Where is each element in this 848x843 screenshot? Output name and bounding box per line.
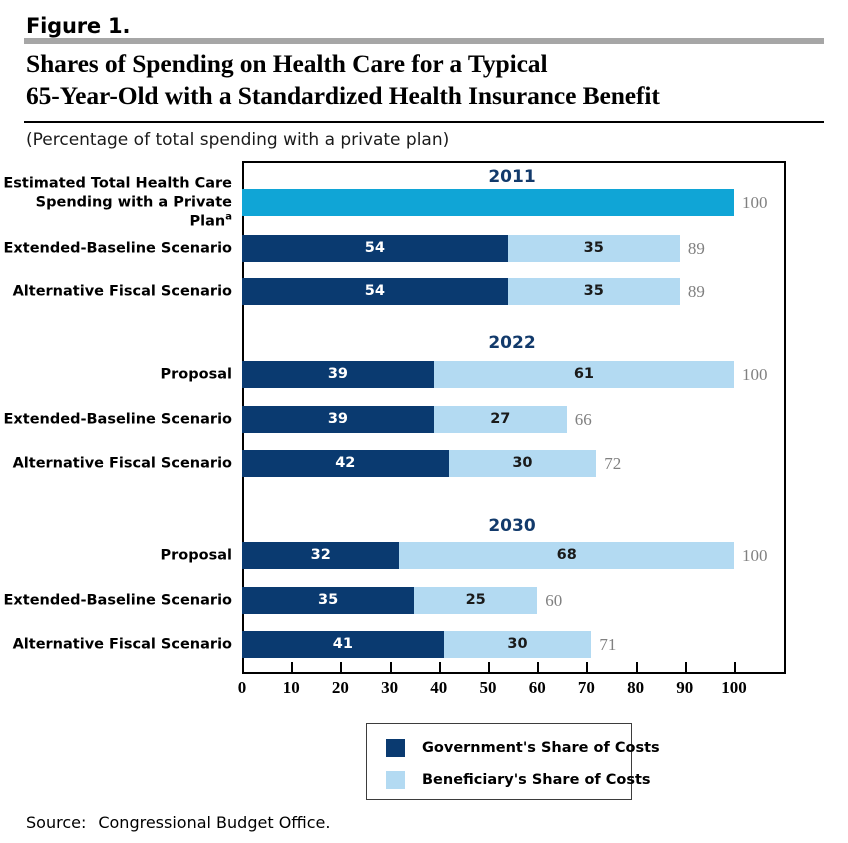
x-axis-tick	[636, 662, 638, 674]
x-axis-tick-label: 40	[430, 678, 447, 698]
x-axis-tick	[439, 662, 441, 674]
chart-bar-beneficiary: 35	[508, 278, 680, 305]
chart-row-total-label: 100	[742, 546, 768, 566]
chart-subtitle: (Percentage of total spending with a pri…	[26, 130, 449, 150]
legend-swatch-icon	[386, 739, 405, 757]
chart-group-title-2022: 2022	[432, 333, 592, 353]
chart-bar-beneficiary: 30	[444, 631, 592, 658]
page-title: Shares of Spending on Health Care for a …	[26, 48, 826, 112]
x-axis-tick-label: 100	[721, 678, 747, 698]
chart-row: Extended-Baseline Scenario392766	[0, 406, 848, 433]
source-note: Source:Congressional Budget Office.	[26, 813, 330, 832]
page-title-line-1: Shares of Spending on Health Care for a …	[26, 48, 826, 80]
chart-bar-government-value: 32	[242, 542, 399, 569]
chart-row-total-label: 89	[688, 239, 705, 259]
chart-row-total-label: 89	[688, 282, 705, 302]
chart-row: Extended-Baseline Scenario352560	[0, 587, 848, 614]
x-axis-tick	[291, 662, 293, 674]
x-axis-tick	[734, 662, 736, 674]
x-axis-tick	[242, 662, 244, 674]
chart-row: Proposal3268100	[0, 542, 848, 569]
header-rule-thin	[24, 121, 824, 123]
chart-bar-beneficiary: 30	[449, 450, 597, 477]
chart-bar-government-value: 39	[242, 406, 434, 433]
x-axis-ticks	[242, 662, 786, 674]
chart-legend: Government's Share of CostsBeneficiary's…	[366, 723, 632, 800]
x-axis-tick	[390, 662, 392, 674]
x-axis-tick-label: 20	[332, 678, 349, 698]
chart-bar-beneficiary-value: 68	[399, 542, 734, 569]
chart-bar-government-value: 35	[242, 587, 414, 614]
chart-row: Alternative Fiscal Scenario423072	[0, 450, 848, 477]
chart-bar-beneficiary: 25	[414, 587, 537, 614]
chart-row-label: Extended-Baseline Scenario	[0, 410, 242, 429]
chart-row: Alternative Fiscal Scenario413071	[0, 631, 848, 658]
chart-bar-beneficiary-value: 35	[508, 278, 680, 305]
chart-row-label: Alternative Fiscal Scenario	[0, 454, 242, 473]
chart-bar-beneficiary-value: 35	[508, 235, 680, 262]
chart-row-label: Proposal	[0, 546, 242, 565]
x-axis-tick-label: 80	[627, 678, 644, 698]
chart-bar-beneficiary-value: 30	[449, 450, 597, 477]
chart-row: Extended-Baseline Scenario543589	[0, 235, 848, 262]
chart-row: Proposal3961100	[0, 361, 848, 388]
chart-bar-government: 54	[242, 278, 508, 305]
footnote-marker: a	[225, 211, 232, 222]
x-axis-tick-label: 0	[238, 678, 247, 698]
chart-row-total-label: 66	[575, 410, 592, 430]
chart-row-total-label: 100	[742, 365, 768, 385]
chart-row-label: Estimated Total Health Care Spending wit…	[0, 174, 242, 231]
x-axis-tick-label: 10	[283, 678, 300, 698]
chart-rows-layer: 2011Estimated Total Health Care Spending…	[0, 161, 848, 674]
source-value: Congressional Budget Office.	[98, 813, 330, 832]
x-axis-tick-label: 70	[578, 678, 595, 698]
x-axis-tick-label: 90	[676, 678, 693, 698]
chart-bar-government-value: 54	[242, 235, 508, 262]
chart-row-label: Alternative Fiscal Scenario	[0, 282, 242, 301]
legend-swatch-icon	[386, 771, 405, 789]
chart-row: Alternative Fiscal Scenario543589	[0, 278, 848, 305]
chart-row-total-label: 100	[742, 193, 768, 213]
x-axis-tick	[340, 662, 342, 674]
x-axis-tick	[488, 662, 490, 674]
chart-bar-government-value: 42	[242, 450, 449, 477]
x-axis-tick	[537, 662, 539, 674]
legend-label: Government's Share of Costs	[422, 738, 660, 758]
chart-group-title-2030: 2030	[432, 516, 592, 536]
chart-bar-beneficiary-value: 27	[434, 406, 567, 433]
x-axis-tick-label: 50	[480, 678, 497, 698]
x-axis-tick-label: 30	[381, 678, 398, 698]
chart-bar-beneficiary: 27	[434, 406, 567, 433]
chart-bar-beneficiary: 61	[434, 361, 734, 388]
legend-label: Beneficiary's Share of Costs	[422, 770, 651, 790]
chart-group-title-2011: 2011	[432, 167, 592, 187]
chart-bar-total-private	[242, 189, 734, 216]
chart-bar-government-value: 39	[242, 361, 434, 388]
chart-row-total-label: 72	[604, 454, 621, 474]
chart-bar-beneficiary-value: 25	[414, 587, 537, 614]
chart-bar-government: 42	[242, 450, 449, 477]
chart-row: Estimated Total Health Care Spending wit…	[0, 189, 848, 216]
x-axis-tick	[685, 662, 687, 674]
chart-bar-beneficiary-value: 61	[434, 361, 734, 388]
chart-bar-government: 39	[242, 361, 434, 388]
x-axis-tick	[586, 662, 588, 674]
chart-bar-government: 54	[242, 235, 508, 262]
chart-bar-government: 32	[242, 542, 399, 569]
chart-row-label: Extended-Baseline Scenario	[0, 591, 242, 610]
x-axis-tick-labels: 0102030405060708090100	[242, 678, 786, 700]
x-axis-tick-label: 60	[529, 678, 546, 698]
chart-bar-beneficiary: 35	[508, 235, 680, 262]
chart-row-label: Extended-Baseline Scenario	[0, 239, 242, 258]
chart-bar-government-value: 54	[242, 278, 508, 305]
header-rule-thick	[24, 38, 824, 44]
chart-bar-beneficiary: 68	[399, 542, 734, 569]
chart-row-label: Proposal	[0, 365, 242, 384]
chart-row-total-label: 71	[599, 635, 616, 655]
chart-bar-government: 35	[242, 587, 414, 614]
figure-label: Figure 1.	[26, 14, 130, 38]
chart-bar-government-value: 41	[242, 631, 444, 658]
chart-row-label: Alternative Fiscal Scenario	[0, 635, 242, 654]
chart-row-total-label: 60	[545, 591, 562, 611]
chart-bar-government: 41	[242, 631, 444, 658]
chart-bar-government: 39	[242, 406, 434, 433]
source-label: Source:	[26, 813, 86, 832]
page-title-line-2: 65-Year-Old with a Standardized Health I…	[26, 80, 826, 112]
chart-bar-beneficiary-value: 30	[444, 631, 592, 658]
